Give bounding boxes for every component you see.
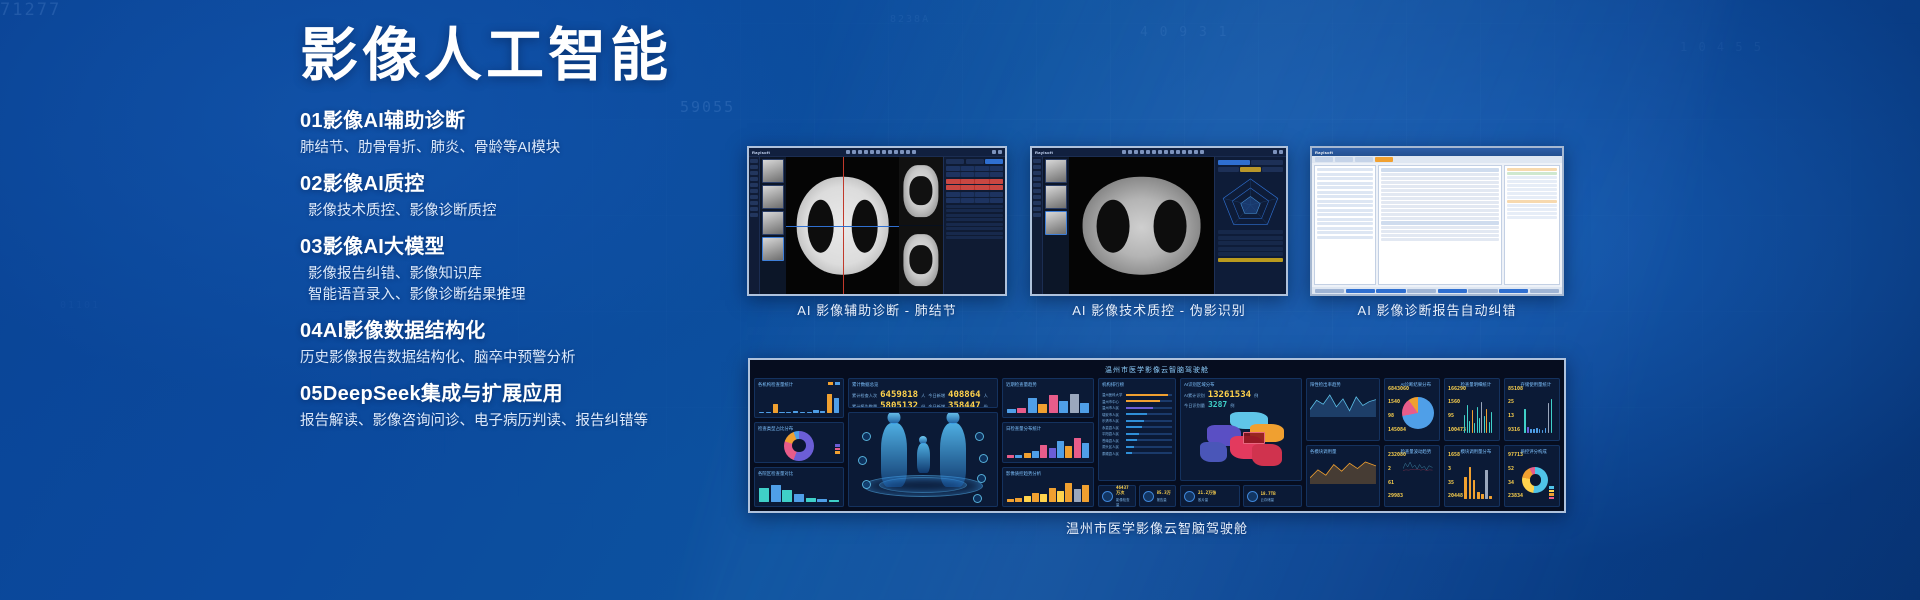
feature-item-05: 05DeepSeek集成与扩展应用 报告解读、影像咨询问诊、电子病历判读、报告纠… — [300, 382, 720, 432]
toolbar-icon[interactable] — [1194, 150, 1198, 154]
ranking-row[interactable]: 温州医科大学 — [1102, 392, 1172, 397]
kpi-row-right: 21.2万张 胶片量 18.7TB 云存储量 — [1180, 485, 1302, 507]
card-exam-type-share[interactable]: 检查类型占比分布 — [754, 422, 844, 462]
finding-row[interactable] — [946, 172, 1003, 177]
toolbar-icon[interactable] — [876, 150, 880, 154]
card-institution-volume[interactable]: 各机构检查量统计 — [754, 378, 844, 418]
rail-tool-icon[interactable] — [1033, 171, 1041, 175]
tree-node[interactable] — [1317, 168, 1373, 171]
series-thumbnail[interactable] — [762, 159, 784, 183]
ranking-row[interactable]: 瑞安市人民 — [1102, 412, 1172, 417]
card-recent-trend[interactable]: 近期检查量趋势 — [1002, 378, 1094, 418]
tree-node[interactable] — [1317, 173, 1373, 176]
bar — [1040, 445, 1047, 458]
stat-value: 3287 — [1208, 400, 1227, 409]
series-thumbnail-list-1[interactable] — [760, 157, 786, 294]
stat-unit: 例 — [1254, 393, 1258, 399]
feature-number-05: 05 — [300, 383, 323, 405]
report-line — [1381, 193, 1499, 196]
rail-tool-icon[interactable] — [750, 213, 758, 217]
viewer-toolbar-1[interactable] — [772, 150, 990, 154]
kpi-card-2[interactable]: 85.3万 报告量 — [1139, 485, 1177, 507]
toolbar-icon[interactable] — [1200, 150, 1204, 154]
stat-column: 232080 2 61 29983 — [1388, 449, 1400, 504]
rail-tool-icon[interactable] — [750, 177, 758, 181]
toolbar-icon[interactable] — [894, 150, 898, 154]
chart-area: 检查量波动趋势 — [1400, 449, 1436, 504]
dashboard-column-4: 机构排行榜 温州医科大学 温州市中心 温州市人民 瑞安市人民 乐清市人民 永嘉县… — [1098, 378, 1176, 507]
tree-node[interactable] — [1317, 222, 1373, 225]
stat-column: 166290 1560 95 100473 — [1448, 382, 1460, 437]
feature-item-03: 03影像AI大模型 影像报告纠错、影像知识库 智能语音录入、影像诊断结果推理 — [300, 235, 720, 306]
tree-node[interactable] — [1317, 186, 1373, 189]
dashboard-title: 温州市医学影像云智脑驾驶舱 — [754, 364, 1560, 375]
rail-tool-icon[interactable] — [750, 195, 758, 199]
correction-suggestions-panel[interactable] — [1504, 165, 1560, 285]
toolbar-icon[interactable] — [1176, 150, 1180, 154]
stat-value: 20448 — [1448, 493, 1460, 499]
pie-stat-value: 1540 — [1388, 399, 1400, 405]
feature-subtitle-02: 影像技术质控、影像诊断质控 — [300, 201, 720, 222]
donut-chart-qc-score — [1522, 467, 1548, 493]
bar-chart-storage — [1524, 394, 1552, 433]
bar — [1070, 394, 1079, 414]
kpi-card-4[interactable]: 18.7TB 云存储量 — [1243, 485, 1303, 507]
toolbar-icon[interactable] — [1140, 150, 1144, 154]
toolbar-icon[interactable] — [1122, 150, 1126, 154]
dashboard-grid: 各机构检查量统计 — [754, 378, 1560, 507]
finding-row[interactable] — [946, 192, 1003, 197]
series-thumbnail-selected[interactable] — [1045, 211, 1067, 235]
stat-value: 408864 — [948, 390, 981, 400]
report-header-line — [1381, 221, 1499, 225]
figure-child — [917, 443, 930, 473]
findings-panel-1[interactable] — [943, 157, 1005, 294]
stat-value: 13261534 — [1208, 390, 1251, 400]
finding-row-alert[interactable] — [946, 185, 1003, 190]
close-icon[interactable] — [1279, 150, 1283, 154]
tree-node[interactable] — [1317, 195, 1373, 198]
tree-node[interactable] — [1317, 218, 1373, 221]
series-thumbnail-selected[interactable] — [762, 237, 784, 261]
rail-tool-icon[interactable] — [750, 183, 758, 187]
bar — [807, 412, 812, 413]
card-module-usage[interactable]: 各模块调用量 — [1306, 445, 1380, 508]
rail-tool-icon[interactable] — [1033, 183, 1041, 187]
report-line — [1381, 217, 1499, 220]
lung-icon — [1102, 491, 1113, 502]
qc-result-row[interactable] — [1218, 247, 1283, 251]
kpi-text: 46437万次 影像检查量 — [1116, 485, 1132, 507]
banner-root: 71277 59055 4 0 9 3 1 8238A 26752 1 0 4 … — [0, 0, 1920, 600]
stat-value: 13 — [1508, 413, 1520, 419]
suggestion-line — [1507, 196, 1557, 199]
finding-row-alert[interactable] — [946, 179, 1003, 184]
viewer-window-2: RayIsoft — [1032, 148, 1286, 294]
toolbar-icon[interactable] — [1128, 150, 1132, 154]
card-qc-score-donut[interactable]: 97713 52 34 23834 质控评分构成 — [1504, 445, 1560, 508]
stat-value: 97713 — [1508, 452, 1520, 458]
screenshot-artifact-qc[interactable]: RayIsoft — [1030, 146, 1288, 296]
ranking-row[interactable]: 永嘉县人民 — [1102, 425, 1172, 430]
card-exam-volume-detail[interactable]: 166290 1560 95 100473 检查量明细统计 — [1444, 378, 1500, 441]
tree-node[interactable] — [1317, 200, 1373, 203]
rail-tool-icon[interactable] — [750, 201, 758, 205]
ct-coronal-image — [903, 165, 938, 217]
rail-tool-icon[interactable] — [750, 207, 758, 211]
qc-result-list[interactable] — [1218, 230, 1283, 262]
kpi-text: 21.2万张 胶片量 — [1198, 490, 1216, 502]
card-ai-result-pie[interactable]: 6843060 1540 98 145084 AI诊断结果分布 — [1384, 378, 1440, 441]
rail-tool-icon[interactable] — [750, 165, 758, 169]
radar-chart — [1218, 174, 1283, 228]
dashboard-column-2: 累计数据总览 累计检查人次 6459818 人 今日新增 408864 人 累计… — [848, 378, 998, 507]
kpi-value: 46437万次 — [1116, 485, 1132, 496]
map-region-southwest[interactable] — [1200, 442, 1227, 462]
suggestion-accepted[interactable] — [1507, 172, 1557, 175]
card-positive-rate[interactable]: 阳性检出率趋势 — [1306, 378, 1380, 441]
bar-chart-campus — [759, 480, 839, 502]
tree-node[interactable] — [1317, 213, 1373, 216]
stat-row-1: 累计检查人次 6459818 人 今日新增 408864 人 — [852, 390, 994, 400]
report-tree-panel[interactable] — [1314, 165, 1376, 285]
pie-stat-value: 98 — [1388, 413, 1400, 419]
legend-swatch — [835, 451, 840, 454]
ranking-row[interactable]: 温州市人民 — [1102, 405, 1172, 410]
line-chart-fluctuation — [1403, 461, 1433, 471]
tree-node[interactable] — [1317, 227, 1373, 230]
findings-button-primary[interactable] — [985, 159, 1003, 164]
rail-tool-icon[interactable] — [1033, 177, 1041, 181]
bar — [1017, 408, 1026, 413]
search-icon[interactable] — [1273, 150, 1277, 154]
toolbar-icon[interactable] — [1152, 150, 1156, 154]
kpi-label: 胶片量 — [1198, 497, 1216, 502]
ranking-row[interactable]: 平阳县人民 — [1102, 431, 1172, 436]
kpi-value: 85.3万 — [1157, 490, 1171, 496]
bar-chart-detail — [1464, 394, 1492, 433]
qc-filter[interactable] — [1262, 167, 1283, 172]
dashboard-subrow-bottom: 232080 2 61 29983 检查量波动趋势 — [1384, 445, 1560, 508]
module-icon-heart[interactable] — [975, 432, 984, 441]
toolbar-icon[interactable] — [1170, 150, 1174, 154]
toolbar-icon[interactable] — [1188, 150, 1192, 154]
card-trend-detail[interactable]: 232080 2 61 29983 检查量波动趋势 — [1384, 445, 1440, 508]
stat-value: 52 — [1508, 466, 1520, 472]
toolbar-icon[interactable] — [1134, 150, 1138, 154]
toolbar-icon[interactable] — [912, 150, 916, 154]
module-icon-brain[interactable] — [862, 432, 871, 441]
stat-value: 358447 — [948, 401, 981, 408]
report-tab[interactable] — [1315, 157, 1333, 162]
findings-button[interactable] — [966, 159, 984, 164]
bar — [1032, 493, 1039, 502]
bar — [1065, 446, 1072, 458]
tree-node[interactable] — [1317, 204, 1373, 207]
series-thumbnail-list-2[interactable] — [1043, 157, 1069, 294]
card-title: 累计数据总览 — [852, 382, 994, 388]
stat-column: 85108 25 13 9316 — [1508, 382, 1520, 437]
chart-area: 模块调用量分布 — [1460, 449, 1496, 504]
stat-label: 今日新增 — [928, 404, 945, 408]
report-line — [1381, 201, 1499, 204]
rail-tool-icon[interactable] — [1033, 195, 1041, 199]
rail-tool-icon[interactable] — [1033, 189, 1041, 193]
screenshot-lung-nodule[interactable]: RayIsoft — [747, 146, 1007, 296]
gear-icon[interactable] — [992, 150, 996, 154]
module-icon-other[interactable] — [973, 494, 982, 503]
toolbar-icon[interactable] — [852, 150, 856, 154]
card-ranking[interactable]: 机构排行榜 温州医科大学 温州市中心 温州市人民 瑞安市人民 乐清市人民 永嘉县… — [1098, 378, 1176, 481]
qc-tabs[interactable] — [1218, 160, 1283, 165]
stat-value: 166290 — [1448, 386, 1460, 392]
stat-value: 100473 — [1448, 427, 1460, 433]
legend-swatch — [835, 444, 840, 447]
radar-chart-svg — [1218, 174, 1283, 228]
pie-stat-value: 6843060 — [1388, 386, 1400, 392]
tool-rail-1[interactable] — [749, 157, 760, 294]
findings-button[interactable] — [946, 159, 964, 164]
series-thumbnail[interactable] — [762, 211, 784, 235]
bar — [771, 485, 781, 502]
screenshot-dashboard[interactable]: 温州市医学影像云智脑驾驶舱 各机构检查量统计 — [748, 358, 1566, 513]
toolbar-icon[interactable] — [1146, 150, 1150, 154]
toolbar-icon[interactable] — [1182, 150, 1186, 154]
card-title: 近期检查量趋势 — [1006, 382, 1090, 388]
finding-row[interactable] — [946, 198, 1003, 203]
dashboard-column-7: 6843060 1540 98 145084 AI诊断结果分布 — [1384, 378, 1560, 507]
report-tab-active[interactable] — [1375, 157, 1393, 162]
bar — [820, 411, 825, 413]
card-qc-trend[interactable]: 影像质控趋势分析 — [1002, 467, 1094, 507]
bar — [1080, 403, 1089, 413]
stat-value: 61 — [1388, 480, 1400, 486]
rail-tool-icon[interactable] — [750, 171, 758, 175]
axial-ct-viewport[interactable] — [786, 157, 899, 294]
qc-filter[interactable] — [1218, 167, 1239, 172]
card-campus-compare[interactable]: 各院区检查量对比 — [754, 467, 844, 507]
report-action-button[interactable] — [1346, 289, 1375, 293]
module-icon-lung[interactable] — [858, 456, 867, 465]
toolbar-icon[interactable] — [900, 150, 904, 154]
rail-tool-icon[interactable] — [750, 159, 758, 163]
report-action-button[interactable] — [1499, 289, 1528, 293]
qc-filter-selected[interactable] — [1240, 167, 1261, 172]
report-body — [1312, 163, 1562, 287]
stat-label: 累计检查人次 — [852, 393, 877, 399]
card-title: AI诊断结果分布 — [1400, 382, 1436, 388]
bar — [782, 490, 792, 502]
card-daily-distribution[interactable]: 日检查量分布统计 — [1002, 422, 1094, 462]
sagittal-viewport[interactable] — [899, 226, 943, 294]
bar — [1007, 455, 1014, 457]
feature-subtitle-04: 历史影像报告数据结构化、脑卒中预警分析 — [300, 348, 720, 369]
finding-text-line — [946, 227, 1003, 230]
feature-label-05: DeepSeek集成与扩展应用 — [323, 383, 563, 405]
qc-score-panel[interactable] — [1214, 157, 1286, 294]
rail-tool-icon[interactable] — [750, 189, 758, 193]
bar-chart-qc-trend — [1007, 480, 1089, 502]
ct-chest-image — [1082, 176, 1201, 275]
screenshot-caption-1: AI 影像辅助诊断 - 肺结节 — [747, 300, 1007, 319]
toolbar-icon[interactable] — [882, 150, 886, 154]
tree-node[interactable] — [1317, 182, 1373, 185]
feature-item-02: 02影像AI质控 影像技术质控、影像诊断质控 — [300, 172, 720, 222]
bar — [800, 412, 805, 413]
toolbar-icon[interactable] — [906, 150, 910, 154]
feature-number-01: 01 — [300, 110, 323, 132]
rail-tool-icon[interactable] — [1033, 159, 1041, 163]
ct-sagittal-image — [903, 234, 938, 286]
rail-tool-icon[interactable] — [1033, 207, 1041, 211]
series-thumbnail[interactable] — [1045, 159, 1067, 183]
legend-swatch — [828, 382, 833, 385]
feature-label-02: 影像AI质控 — [323, 173, 425, 195]
ranking-row[interactable]: 苍南县人民 — [1102, 438, 1172, 443]
toolbar-icon[interactable] — [1164, 150, 1168, 154]
screenshot-report-correct[interactable]: RayIsoft — [1310, 146, 1564, 296]
kpi-text: 18.7TB 云存储量 — [1261, 491, 1276, 502]
finding-text-line — [946, 209, 1003, 212]
app-brand-3: RayIsoft — [1315, 150, 1333, 155]
report-tab[interactable] — [1335, 157, 1353, 162]
ranking-row[interactable]: 乐清市人民 — [1102, 418, 1172, 423]
finding-text-line — [946, 223, 1003, 226]
card-module-call-bar[interactable]: 1658 3 35 20448 模块调用量分布 — [1444, 445, 1500, 508]
qc-filter-row[interactable] — [1218, 167, 1283, 172]
qc-result-row[interactable] — [1218, 236, 1283, 240]
suggestion-line — [1507, 208, 1557, 211]
bar-chart-trend — [1007, 391, 1089, 413]
ranking-list[interactable]: 温州医科大学 温州市中心 温州市人民 瑞安市人民 乐清市人民 永嘉县人民 平阳县… — [1102, 390, 1172, 456]
report-action-button[interactable] — [1530, 289, 1559, 293]
stat-value: 3 — [1448, 466, 1460, 472]
report-line — [1381, 226, 1499, 229]
stat-value: 6459818 — [880, 390, 918, 400]
qc-result-row-highlight[interactable] — [1218, 258, 1283, 262]
dashboard-column-3: 近期检查量趋势 日检查量分布统计 — [1002, 378, 1094, 507]
bar — [1024, 496, 1031, 502]
card-title: 检查量波动趋势 — [1400, 449, 1436, 455]
bar — [1057, 491, 1064, 502]
qc-tab-active[interactable] — [1218, 160, 1250, 165]
report-line — [1381, 185, 1499, 188]
chart-legend — [835, 444, 840, 454]
bar — [1049, 488, 1056, 502]
rail-tool-icon[interactable] — [1033, 201, 1041, 205]
report-line — [1381, 238, 1499, 241]
module-icon-liver[interactable] — [979, 454, 988, 463]
tree-node[interactable] — [1317, 236, 1373, 239]
module-icon-bone[interactable] — [862, 480, 871, 489]
suggestion-header — [1507, 168, 1557, 171]
toolbar-icon[interactable] — [1158, 150, 1162, 154]
stat-value: 23834 — [1508, 493, 1520, 499]
viewer-toolbar-2[interactable] — [1055, 150, 1271, 154]
feature-label-01: 影像AI辅助诊断 — [323, 110, 465, 132]
stat-value: 1658 — [1448, 452, 1460, 458]
ranking-row[interactable]: 温州市中心 — [1102, 399, 1172, 404]
series-thumbnail[interactable] — [762, 185, 784, 209]
report-line — [1381, 173, 1499, 176]
app-brand-2: RayIsoft — [1035, 150, 1053, 155]
ranking-row[interactable]: 洞头区人民 — [1102, 444, 1172, 449]
series-thumbnail[interactable] — [1045, 185, 1067, 209]
report-text-panel[interactable] — [1378, 165, 1502, 285]
map-stat-2: 今日识别量 3287 例 — [1184, 400, 1298, 409]
findings-toolbar[interactable] — [946, 159, 1003, 164]
texture-digit-3: 4 0 9 3 1 — [1140, 25, 1228, 40]
stat-value: 29983 — [1388, 493, 1400, 499]
feature-label-04: AI影像数据结构化 — [323, 320, 486, 342]
bar — [829, 500, 839, 502]
feature-number-04: 04 — [300, 320, 323, 342]
card-region-map[interactable]: AI识别区域分布 AI累计识别 13261534 例 今日识别量 3287 例 — [1180, 378, 1302, 481]
map-region-south[interactable] — [1252, 444, 1282, 466]
report-tab[interactable] — [1355, 157, 1373, 162]
feature-title-01: 01影像AI辅助诊断 — [300, 109, 720, 134]
tool-rail-2[interactable] — [1032, 157, 1043, 294]
tree-node[interactable] — [1317, 209, 1373, 212]
card-title: 日检查量分布统计 — [1006, 426, 1090, 432]
qc-result-row[interactable] — [1218, 241, 1283, 245]
cloud-icon — [1247, 491, 1258, 502]
coronal-viewport[interactable] — [899, 157, 943, 225]
kpi-card-1[interactable]: 46437万次 影像检查量 — [1098, 485, 1136, 507]
axial-ct-viewport-2[interactable] — [1069, 157, 1214, 294]
toolbar-icon[interactable] — [888, 150, 892, 154]
kpi-card-3[interactable]: 21.2万张 胶片量 — [1180, 485, 1240, 507]
bar — [1082, 485, 1089, 502]
qc-tab[interactable] — [1251, 160, 1283, 165]
toolbar-icon[interactable] — [870, 150, 874, 154]
stat-value: 85108 — [1508, 386, 1520, 392]
stat-value: 34 — [1508, 480, 1520, 486]
kpi-value: 18.7TB — [1261, 491, 1276, 496]
rail-tool-icon[interactable] — [1033, 213, 1041, 217]
report-action-button[interactable] — [1315, 289, 1344, 293]
module-icon-spine[interactable] — [977, 474, 986, 483]
page-title: 影像人工智能 — [300, 26, 720, 87]
card-storage-stats[interactable]: 85108 25 13 9316 存储使用量统计 — [1504, 378, 1560, 441]
report-action-button[interactable] — [1376, 289, 1405, 293]
toolbar-icon[interactable] — [846, 150, 850, 154]
feature-subtitle-03: 影像报告纠错、影像知识库 智能语音录入、影像诊断结果推理 — [300, 264, 720, 306]
tree-node[interactable] — [1317, 231, 1373, 234]
kpi-value: 21.2万张 — [1198, 490, 1216, 496]
hologram-figures — [852, 416, 994, 503]
report-action-bar[interactable] — [1312, 287, 1562, 294]
rail-tool-icon[interactable] — [1033, 165, 1041, 169]
close-icon[interactable] — [998, 150, 1002, 154]
report-action-button[interactable] — [1407, 289, 1436, 293]
qc-result-row[interactable] — [1218, 252, 1283, 256]
finding-row[interactable] — [946, 166, 1003, 171]
toolbar-icon[interactable] — [864, 150, 868, 154]
tree-node[interactable] — [1317, 177, 1373, 180]
report-action-button[interactable] — [1468, 289, 1497, 293]
region-map[interactable] — [1184, 409, 1298, 477]
report-tabbar[interactable] — [1312, 156, 1562, 163]
film-icon — [1184, 491, 1195, 502]
tree-node[interactable] — [1317, 191, 1373, 194]
ranking-row[interactable]: 泰顺县人民 — [1102, 451, 1172, 456]
report-action-button[interactable] — [1438, 289, 1467, 293]
chart-area: 检查量明细统计 — [1460, 382, 1496, 437]
card-title: 机构排行榜 — [1102, 382, 1172, 388]
qc-result-row[interactable] — [1218, 230, 1283, 234]
toolbar-icon[interactable] — [858, 150, 862, 154]
